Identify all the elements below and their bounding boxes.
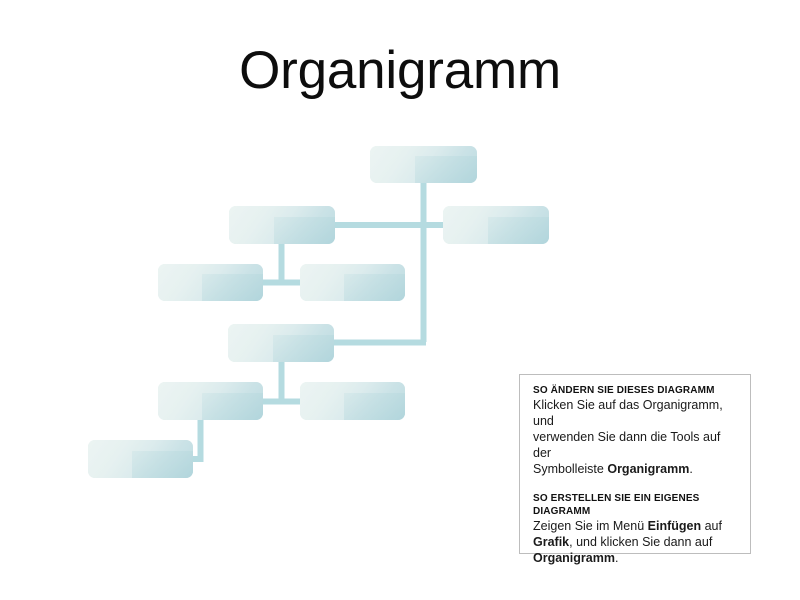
org-node-5-label bbox=[300, 264, 405, 272]
tip-section-1-line-2: verwenden Sie dann die Tools auf der bbox=[533, 430, 720, 460]
tip-section-1-line-3: Symbolleiste Organigramm. bbox=[533, 462, 693, 476]
org-node-2-label bbox=[229, 206, 335, 214]
tip-section-2-line-1: Zeigen Sie im Menü Einfügen auf bbox=[533, 519, 722, 533]
org-node-7-label bbox=[158, 382, 263, 390]
tip-section-2-heading: SO ERSTELLEN SIE EIN EIGENES DIAGRAMM bbox=[533, 492, 739, 518]
connector-node-7-to-node-9 bbox=[193, 420, 201, 459]
org-node-2[interactable] bbox=[229, 206, 335, 244]
org-node-6-label bbox=[228, 324, 334, 332]
org-node-9-label bbox=[88, 440, 193, 448]
tip-section-2-line-3: Organigramm. bbox=[533, 551, 618, 565]
org-node-8-label bbox=[300, 382, 405, 390]
org-node-7[interactable] bbox=[158, 382, 263, 420]
tip-section-1-body: Klicken Sie auf das Organigramm, und ver… bbox=[533, 397, 739, 477]
org-node-5[interactable] bbox=[300, 264, 405, 301]
tip-section-1-heading: SO ÄNDERN SIE DIESES DIAGRAMM bbox=[533, 384, 739, 397]
presentation-slide: Organigramm bbox=[0, 0, 800, 600]
tip-section-1-line-1: Klicken Sie auf das Organigramm, und bbox=[533, 398, 723, 428]
tip-section-divider bbox=[533, 477, 739, 492]
instruction-text-box[interactable]: SO ÄNDERN SIE DIESES DIAGRAMM Klicken Si… bbox=[519, 374, 751, 554]
org-node-3-label bbox=[443, 206, 549, 214]
org-node-6[interactable] bbox=[228, 324, 334, 362]
tip-section-2-line-2: Grafik, und klicken Sie dann auf bbox=[533, 535, 712, 549]
org-node-4[interactable] bbox=[158, 264, 263, 301]
org-node-1-label bbox=[370, 146, 477, 154]
org-node-3[interactable] bbox=[443, 206, 549, 244]
org-node-8[interactable] bbox=[300, 382, 405, 420]
org-node-9[interactable] bbox=[88, 440, 193, 478]
tip-section-2-body: Zeigen Sie im Menü Einfügen auf Grafik, … bbox=[533, 518, 739, 566]
org-node-1[interactable] bbox=[370, 146, 477, 183]
org-node-4-label bbox=[158, 264, 263, 272]
